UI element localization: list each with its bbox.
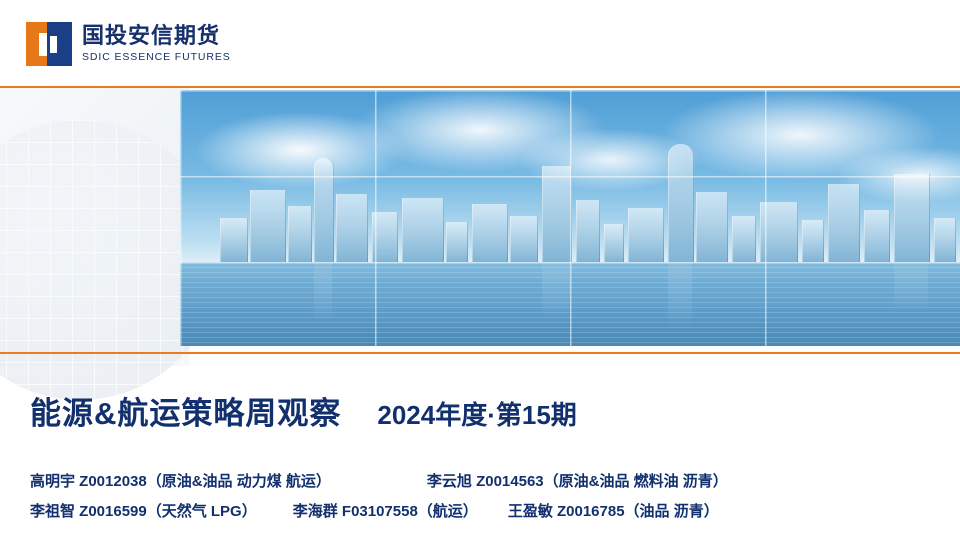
- brand-name-cn: 国投安信期货: [82, 24, 231, 48]
- author-entry: 王盈敏 Z0016785（油品 沥青）: [508, 500, 719, 521]
- hero-image: [180, 90, 960, 346]
- brand-text: 国投安信期货 SDIC ESSENCE FUTURES: [82, 24, 231, 64]
- author-entry: 李海群 F03107558（航运）: [293, 500, 478, 521]
- author-list: 高明宇 Z0012038（原油&油品 动力煤 航运） 李云旭 Z0014563（…: [30, 470, 950, 530]
- brand-logo: 国投安信期货 SDIC ESSENCE FUTURES: [26, 22, 231, 66]
- presentation-slide: 国投安信期货 SDIC ESSENCE FUTURES: [0, 0, 960, 540]
- author-entry: 高明宇 Z0012038（原油&油品 动力煤 航运）: [30, 470, 331, 491]
- author-row: 高明宇 Z0012038（原油&油品 动力煤 航运） 李云旭 Z0014563（…: [30, 470, 950, 500]
- author-row: 李祖智 Z0016599（天然气 LPG） 李海群 F03107558（航运） …: [30, 500, 950, 530]
- title-block: 能源&航运策略周观察 2024年度·第15期: [30, 398, 577, 429]
- author-entry: 李祖智 Z0016599（天然气 LPG）: [30, 500, 257, 521]
- hero-grid-overlay: [180, 90, 960, 346]
- issue-label: 2024年度·第15期: [377, 402, 576, 428]
- author-entry: 李云旭 Z0014563（原油&油品 燃料油 沥青）: [427, 470, 728, 491]
- slide-header: 国投安信期货 SDIC ESSENCE FUTURES: [0, 0, 960, 86]
- header-divider: [0, 86, 960, 88]
- page-title: 能源&航运策略周观察: [30, 398, 341, 429]
- hero-bottom-divider: [0, 352, 960, 354]
- brand-name-en: SDIC ESSENCE FUTURES: [82, 51, 231, 64]
- sdic-square-logo-icon: [26, 22, 72, 66]
